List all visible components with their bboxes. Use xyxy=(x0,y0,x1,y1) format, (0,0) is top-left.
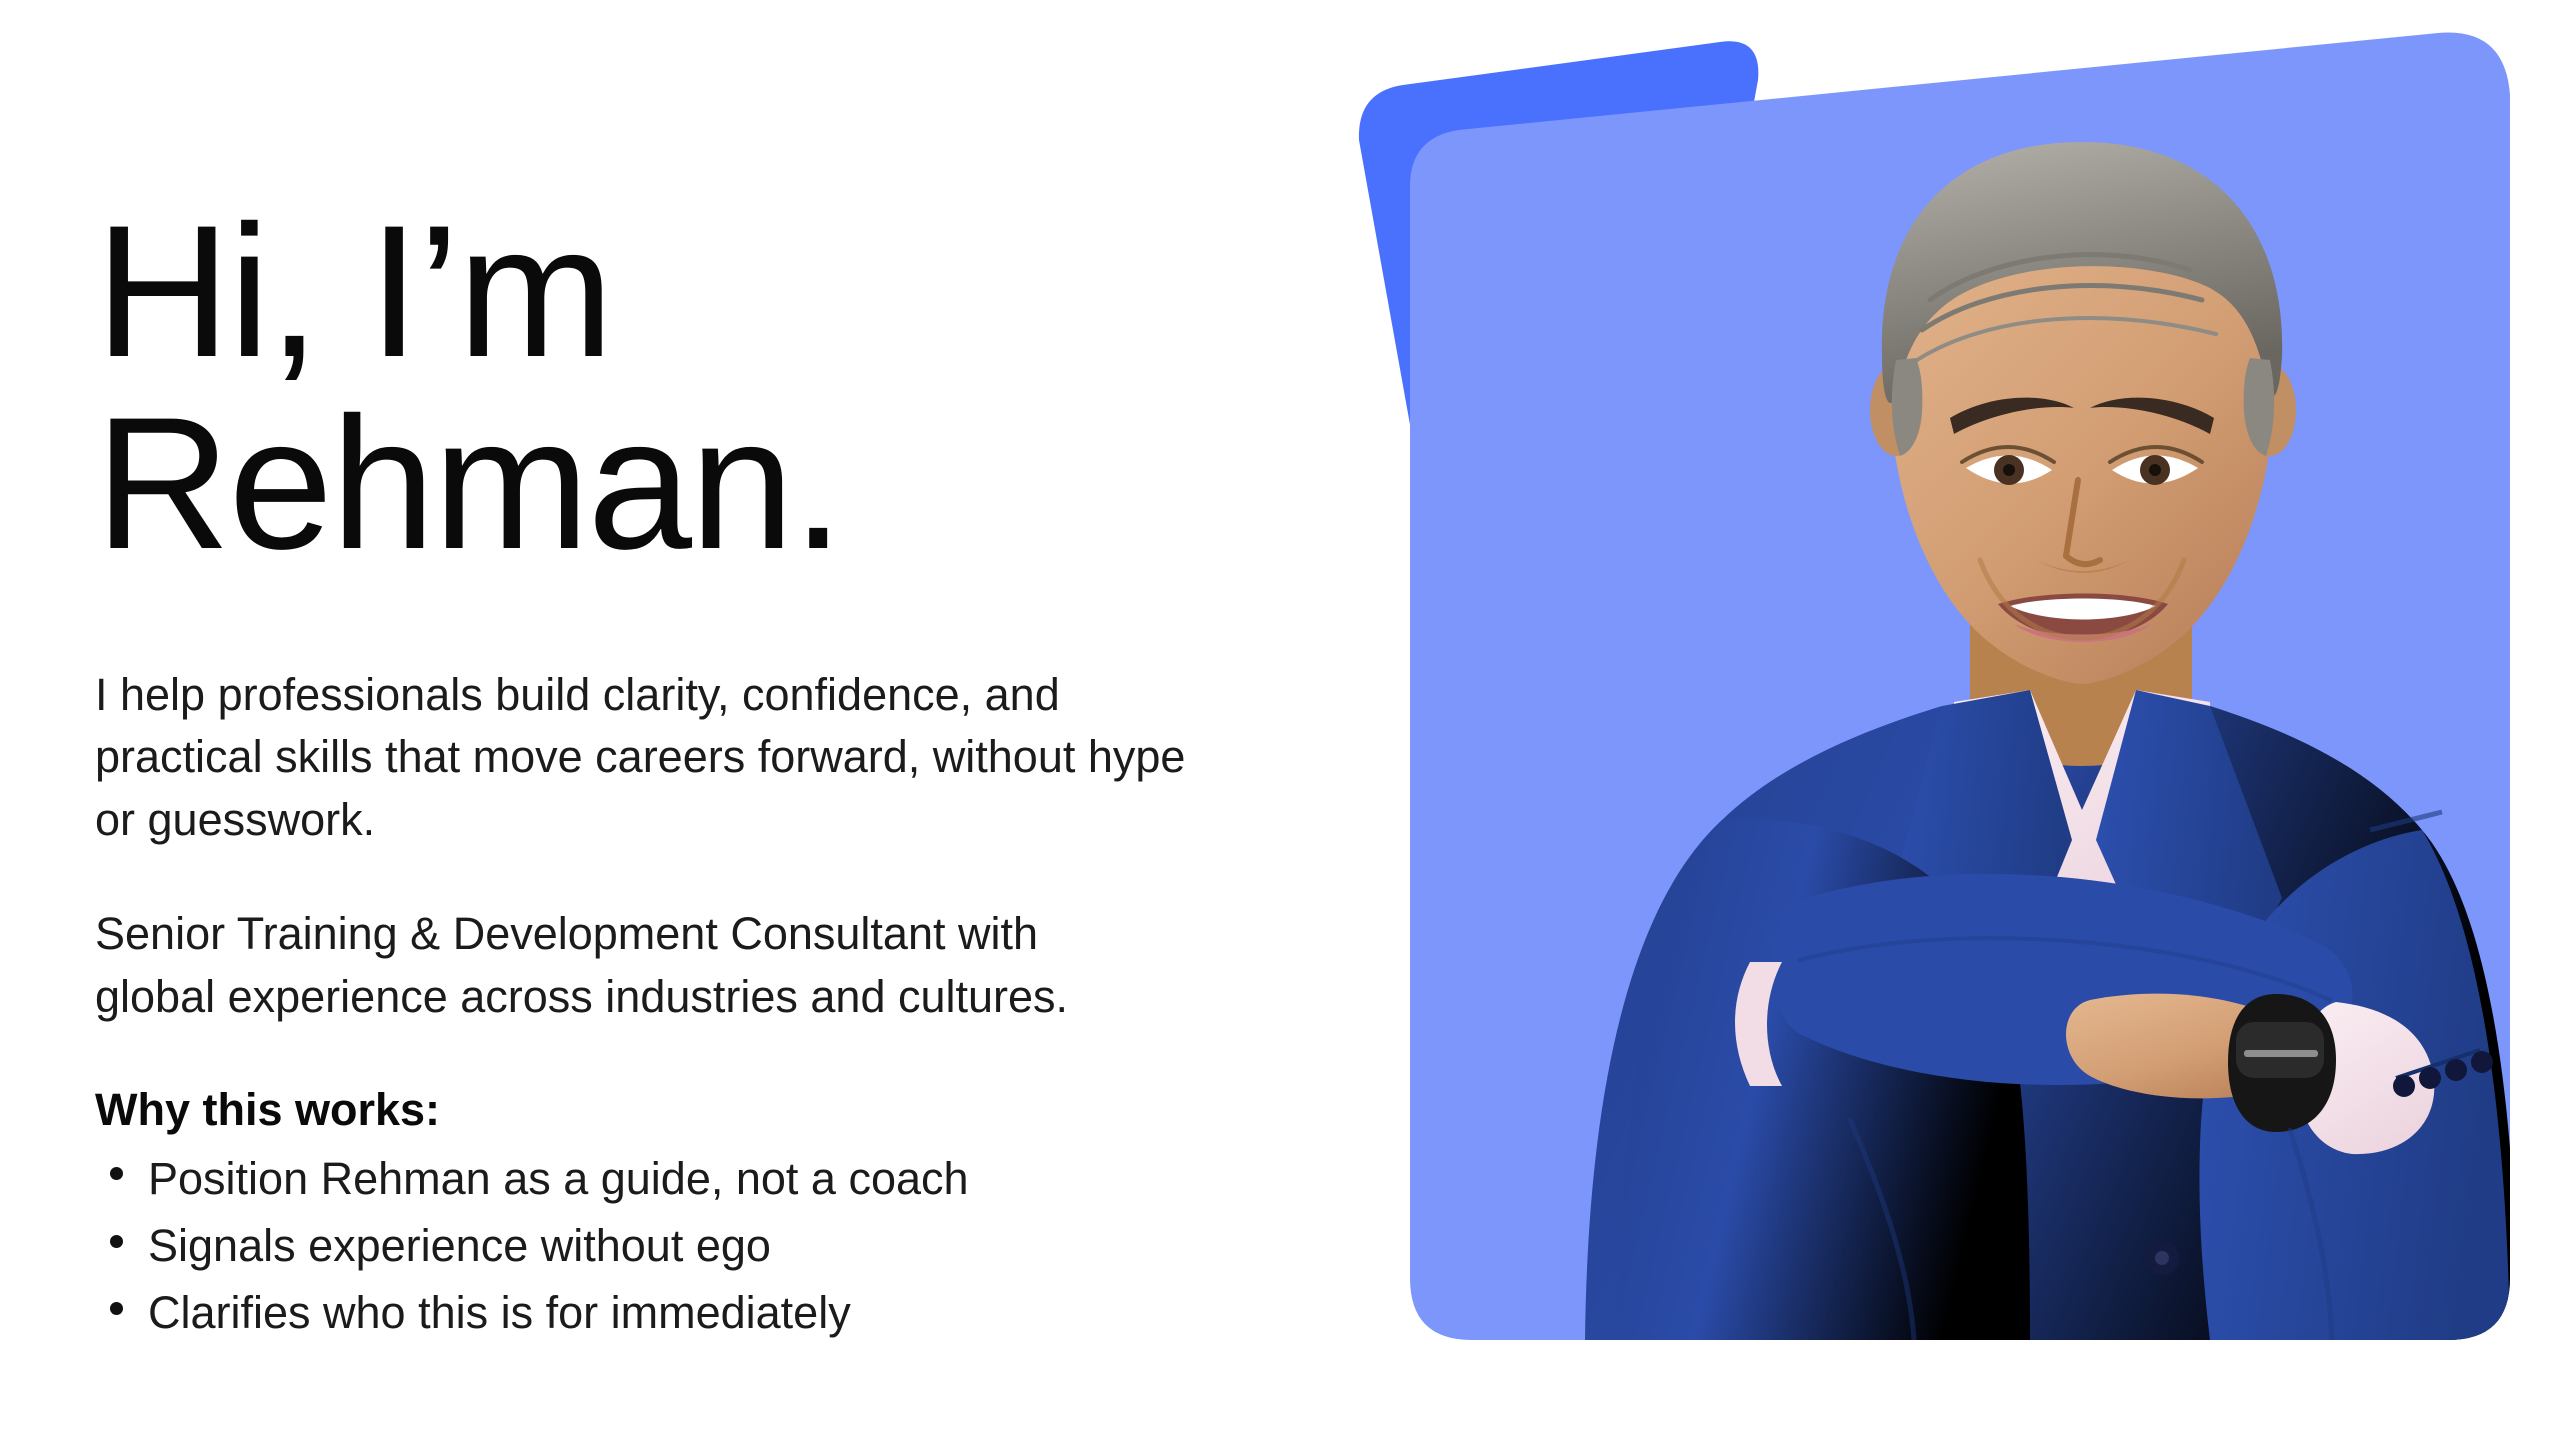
slide-root: Hi, I’m Rehman. I help professionals bui… xyxy=(0,0,2560,1439)
list-item-label: Position Rehman as a guide, not a coach xyxy=(148,1153,969,1204)
hero-text-column: Hi, I’m Rehman. I help professionals bui… xyxy=(95,196,1245,1346)
hero-artwork xyxy=(1330,0,2560,1439)
list-item: Signals experience without ego xyxy=(95,1212,1245,1279)
list-item: Position Rehman as a guide, not a coach xyxy=(95,1145,1245,1212)
bullet-dot-icon xyxy=(110,1302,123,1315)
why-this-works-heading: Why this works: xyxy=(95,1080,1245,1141)
why-this-works-list: Position Rehman as a guide, not a coach … xyxy=(95,1145,1245,1346)
role-paragraph: Senior Training & Development Consultant… xyxy=(95,903,1155,1028)
page-title: Hi, I’m Rehman. xyxy=(95,196,1245,580)
list-item-label: Signals experience without ego xyxy=(148,1220,771,1271)
intro-paragraph: I help professionals build clarity, conf… xyxy=(95,664,1205,852)
bullet-dot-icon xyxy=(110,1235,123,1248)
list-item-label: Clarifies who this is for immediately xyxy=(148,1287,851,1338)
artwork-svg xyxy=(1330,0,2560,1439)
list-item: Clarifies who this is for immediately xyxy=(95,1279,1245,1346)
bullet-dot-icon xyxy=(110,1167,123,1180)
